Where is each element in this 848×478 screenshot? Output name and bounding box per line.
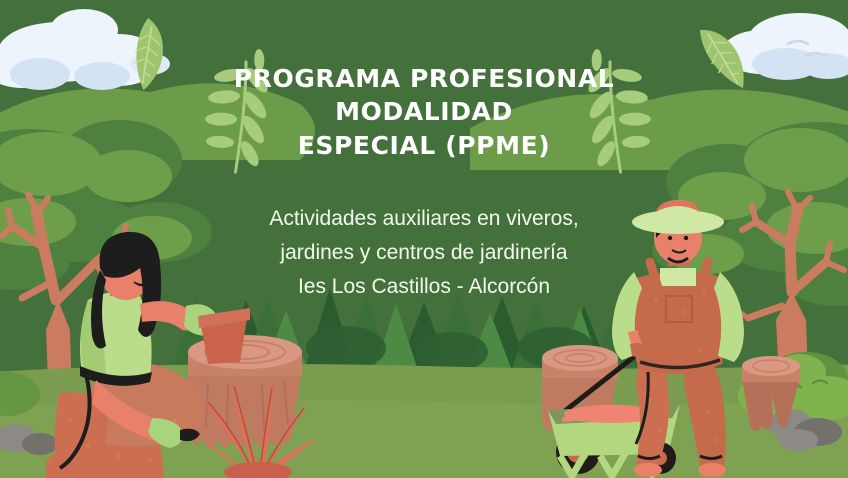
poster-canvas: PROGRAMA PROFESIONAL MODALIDAD ESPECIAL …: [0, 0, 848, 478]
scene-illustration: [0, 0, 848, 478]
